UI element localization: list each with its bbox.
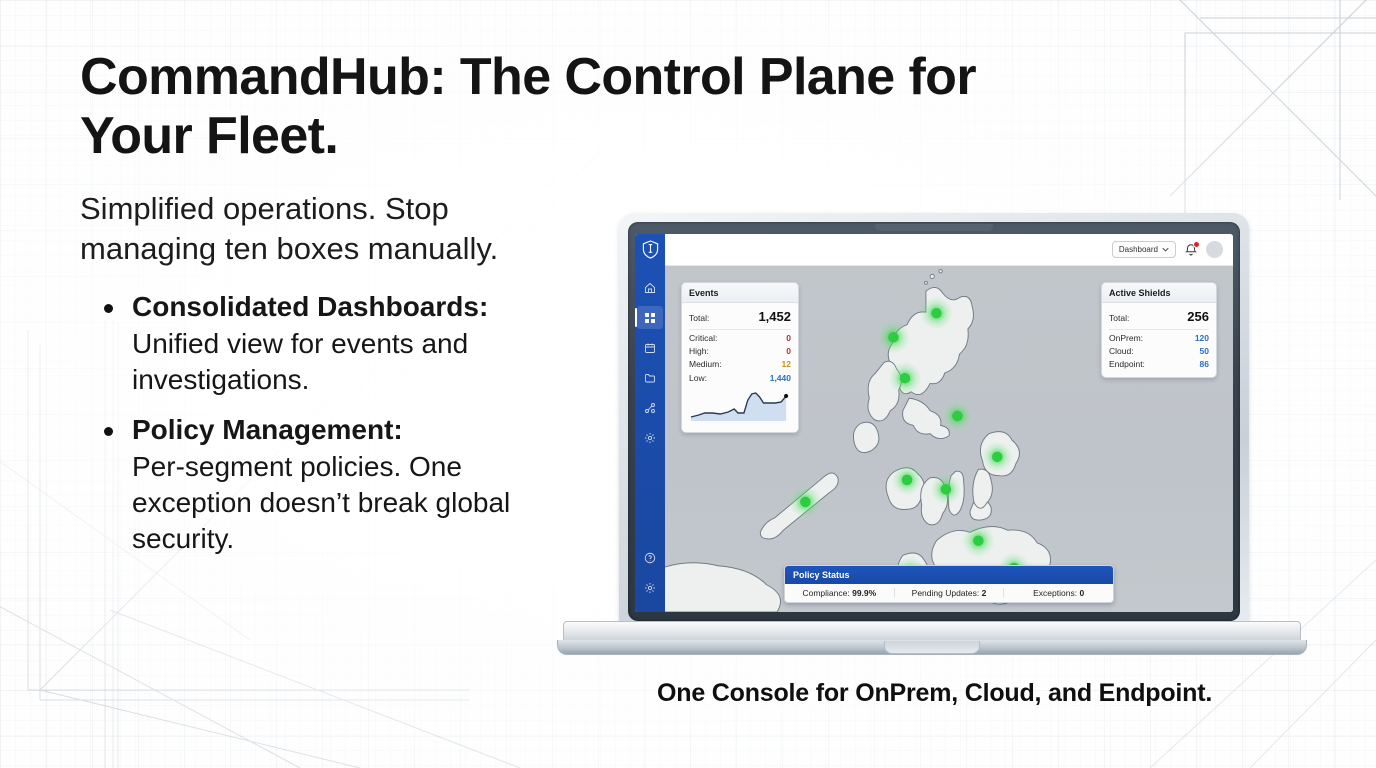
laptop-bezel: Dashboard [628,222,1240,621]
events-low-label: Low: [689,372,707,385]
events-high-label: High: [689,345,709,358]
sidebar-item-help[interactable] [637,546,663,569]
sidebar-item-dashboard[interactable] [637,306,663,329]
events-row-medium: Medium: 12 [689,358,791,371]
shields-cloud-value: 50 [1200,345,1209,358]
notification-badge [1193,241,1200,248]
events-high-value: 0 [786,345,791,358]
avatar[interactable] [1206,241,1223,258]
laptop-caption: One Console for OnPrem, Cloud, and Endpo… [657,679,1212,708]
policy-status-body: Compliance: 99.9% Pending Updates: 2 Exc… [785,584,1113,602]
list-item: Policy Management: Per-segment policies.… [132,412,550,558]
events-card[interactable]: Events Total: 1,452 Critical: 0 [681,282,799,433]
map-markers [789,296,1030,590]
events-card-body: Total: 1,452 Critical: 0 High: [682,303,798,432]
events-card-title: Events [682,283,798,303]
bullet-body: Per-segment policies. One exception does… [132,449,550,558]
events-total-label: Total: [689,312,709,325]
events-critical-value: 0 [786,332,791,345]
view-selector-label: Dashboard [1119,245,1158,254]
policy-compliance: Compliance: 99.9% [785,588,894,598]
bullet-title: Consolidated Dashboards: [132,289,550,325]
text-column: CommandHub: The Control Plane for Your F… [80,48,640,572]
sidebar-item-calendar[interactable] [637,336,663,359]
policy-compliance-value: 99.9% [852,588,876,598]
bullet-body: Unified view for events and investigatio… [132,326,550,399]
slide-root: CommandHub: The Control Plane for Your F… [0,0,1376,768]
bullet-list: Consolidated Dashboards: Unified view fo… [80,289,550,558]
events-row-high: High: 0 [689,345,791,358]
dashboard-screen: Dashboard [635,234,1233,612]
shields-endpoint-value: 86 [1200,358,1209,371]
coverage-map[interactable]: Events Total: 1,452 Critical: 0 [665,266,1233,612]
laptop-lid: Dashboard [619,213,1249,633]
shield-logo-icon [642,240,659,264]
policy-pending-label: Pending Updates: [912,588,980,598]
dashboard-sidebar [635,234,665,612]
shields-cloud-label: Cloud: [1109,345,1134,358]
policy-exceptions-value: 0 [1079,588,1084,598]
bullet-title: Policy Management: [132,412,550,448]
events-row-low: Low: 1,440 [689,372,791,385]
events-critical-label: Critical: [689,332,717,345]
active-shields-card[interactable]: Active Shields Total: 256 OnPrem: 120 [1101,282,1217,378]
policy-exceptions: Exceptions: 0 [1003,588,1113,598]
shields-card-body: Total: 256 OnPrem: 120 Cloud: [1102,303,1216,377]
shields-endpoint-label: Endpoint: [1109,358,1145,371]
laptop-base-top [563,621,1301,642]
list-item: Consolidated Dashboards: Unified view fo… [132,289,550,398]
laptop-mockup: Dashboard [557,213,1307,661]
events-row-critical: Critical: 0 [689,332,791,345]
sidebar-item-settings[interactable] [637,426,663,449]
view-selector-dropdown[interactable]: Dashboard [1112,241,1176,258]
shields-row-onprem: OnPrem: 120 [1109,332,1209,345]
sidebar-item-preferences[interactable] [637,576,663,599]
policy-status-title: Policy Status [785,566,1113,584]
page-title: CommandHub: The Control Plane for Your F… [80,48,980,167]
shields-total-value: 256 [1187,307,1209,327]
sidebar-bottom-group [637,546,663,612]
subheadline: Simplified operations. Stop managing ten… [80,189,510,270]
webcam-notch [875,224,993,231]
events-low-value: 1,440 [770,372,791,385]
policy-exceptions-label: Exceptions: [1033,588,1077,598]
shields-total-label: Total: [1109,312,1129,325]
laptop-front-notch [884,641,980,654]
sidebar-item-network[interactable] [637,396,663,419]
events-medium-label: Medium: [689,358,722,371]
sidebar-item-folder[interactable] [637,366,663,389]
laptop-base [557,621,1307,655]
events-medium-value: 12 [782,358,791,371]
laptop-base-lip [557,640,1307,655]
chevron-down-icon [1162,247,1169,252]
shields-card-title: Active Shields [1102,283,1216,303]
events-trend-sparkline [689,388,791,422]
shields-row-cloud: Cloud: 50 [1109,345,1209,358]
notification-bell-icon[interactable] [1184,243,1198,257]
shields-row-endpoint: Endpoint: 86 [1109,358,1209,371]
shields-total-row: Total: 256 [1109,307,1209,330]
policy-compliance-label: Compliance: [802,588,849,598]
shields-onprem-value: 120 [1195,332,1209,345]
events-total-value: 1,452 [758,307,791,327]
policy-status-panel[interactable]: Policy Status Compliance: 99.9% Pending … [784,565,1114,603]
dashboard-topbar: Dashboard [665,234,1233,266]
events-total-row: Total: 1,452 [689,307,791,330]
policy-pending-value: 2 [982,588,987,598]
policy-pending-updates: Pending Updates: 2 [894,588,1004,598]
sidebar-item-home[interactable] [637,276,663,299]
shields-onprem-label: OnPrem: [1109,332,1143,345]
dashboard-main: Dashboard [665,234,1233,612]
